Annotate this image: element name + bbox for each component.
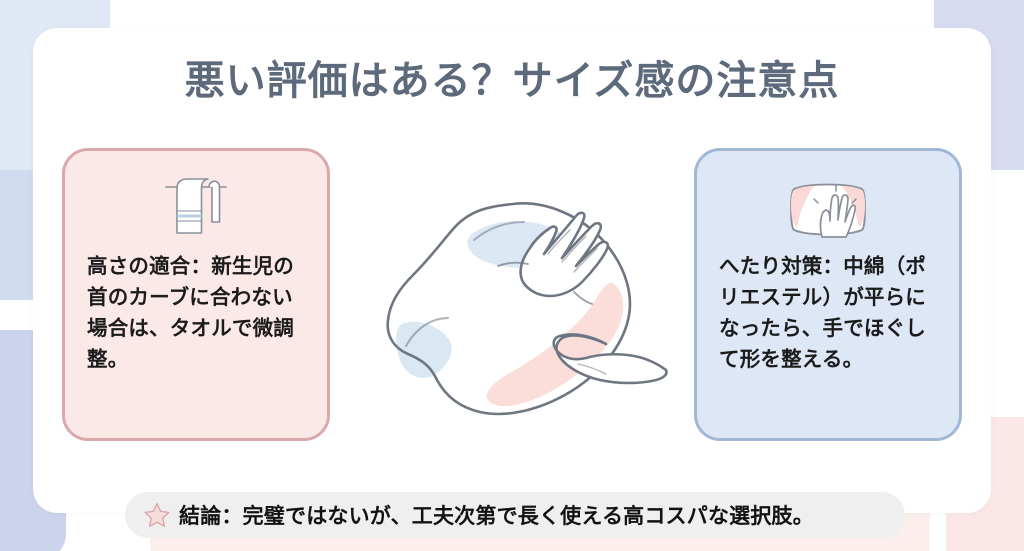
conclusion-banner: 結論：完璧ではないが、工夫次第で長く使える高コスパな選択肢。 xyxy=(125,492,905,538)
content-card: 悪い評価はある？サイズ感の注意点 高さの適合：新生児の首のカーブに合わない場合は… xyxy=(33,28,991,513)
feature-text-height-fit: 高さの適合：新生児の首のカーブに合わない場合は、タオルで微調整。 xyxy=(87,251,305,376)
page-title: 悪い評価はある？サイズ感の注意点 xyxy=(33,48,991,106)
hands-fluffing-pillow-illustration xyxy=(378,178,668,428)
conclusion-text: 結論：完璧ではないが、工夫次第で長く使える高コスパな選択肢。 xyxy=(179,500,814,530)
slide-canvas: 悪い評価はある？サイズ感の注意点 高さの適合：新生児の首のカーブに合わない場合は… xyxy=(0,0,1024,551)
star-icon xyxy=(143,501,171,529)
feature-card-height-fit[interactable]: 高さの適合：新生児の首のカーブに合わない場合は、タオルで微調整。 xyxy=(62,148,330,441)
towel-icon xyxy=(65,171,327,249)
feature-card-flatten-care[interactable]: へたり対策：中綿（ポリエステル）が平らになったら、手でほぐして形を整える。 xyxy=(694,148,962,441)
pillow-pat-icon xyxy=(697,171,959,249)
feature-text-flatten-care: へたり対策：中綿（ポリエステル）が平らになったら、手でほぐして形を整える。 xyxy=(719,251,937,376)
